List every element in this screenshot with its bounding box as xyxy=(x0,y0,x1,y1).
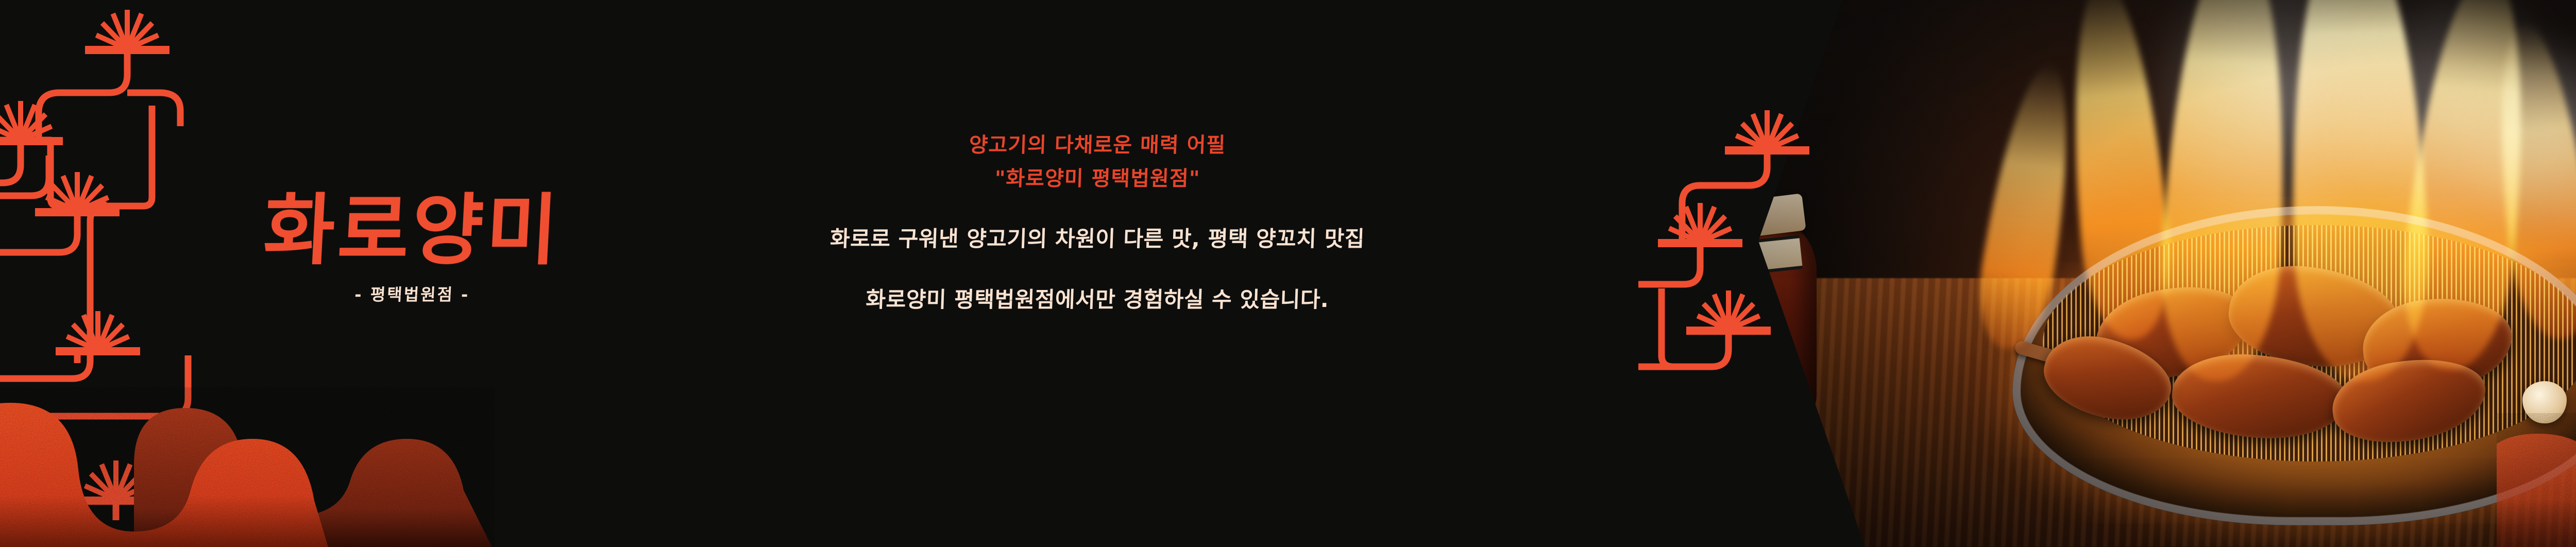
brand-logo: 화로양미 - 평택법원점 - xyxy=(222,192,603,305)
logo-name: 화로양미 xyxy=(219,192,605,270)
copy-body-line1: 화로로 구워낸 양고기의 차원이 다른 맛, 평택 양꼬치 맛집 xyxy=(731,221,1464,257)
copy-headline-line1: 양고기의 다채로운 매력 어필 xyxy=(731,129,1464,162)
copy-body-line2: 화로양미 평택법원점에서만 경험하실 수 있습니다. xyxy=(731,282,1464,317)
promo-banner: 865 SELECTED VINEYARDS SAN PEDRO xyxy=(0,0,2576,547)
logo-branch: - 평택법원점 - xyxy=(221,282,603,305)
copy-headline-line2: "화로양미 평택법원점" xyxy=(731,162,1464,196)
promo-copy: 양고기의 다채로운 매력 어필 "화로양미 평택법원점" 화로로 구워낸 양고기… xyxy=(732,129,1463,317)
